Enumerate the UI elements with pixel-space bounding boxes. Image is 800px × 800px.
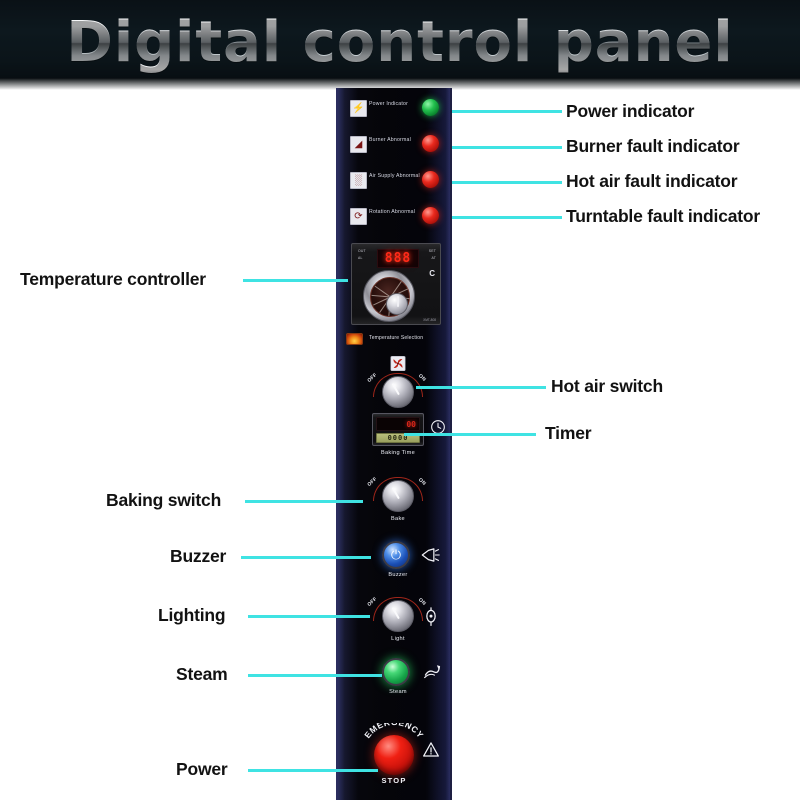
indicator-row-power[interactable]: ⚡ Power Indicator <box>346 96 450 122</box>
steam-control[interactable]: Steam <box>346 658 450 702</box>
indicator-row-burner[interactable]: ◢ Burner Abnormal <box>346 132 450 158</box>
hot-air-switch[interactable]: OFF ON <box>346 356 450 412</box>
emergency-stop-button[interactable] <box>374 735 414 775</box>
control-panel-diagram: Digital control panel ⚡ Power Indicator … <box>0 0 800 800</box>
callout-steam: Steam <box>176 664 228 685</box>
buzzer-button[interactable]: ⏻ <box>382 541 410 569</box>
baking-switch[interactable]: OFF ON Bake <box>346 480 450 528</box>
status-led-air-supply <box>422 171 439 188</box>
leader-line-steam <box>248 674 382 677</box>
indicator-label: Power Indicator <box>369 101 408 107</box>
temp-tag-al: AL <box>358 256 363 260</box>
callout-burner-fault-indicator: Burner fault indicator <box>566 136 740 157</box>
bake-knob-area[interactable]: OFF ON <box>346 480 450 514</box>
temperature-dial-scale <box>370 277 410 317</box>
light-caption: Light <box>346 636 450 642</box>
callout-hot-air-switch: Hot air switch <box>551 376 663 397</box>
temperature-screen: OUT AL 888 SET AT <box>357 248 437 268</box>
light-on-label: ON <box>417 597 427 607</box>
emergency-stop-label: STOP <box>346 776 442 785</box>
temperature-display-value: 888 <box>377 249 419 268</box>
buzzer-control[interactable]: ⏻ Buzzer <box>346 541 450 585</box>
baking-timer[interactable]: 00 0000 Baking Time <box>346 413 450 465</box>
leader-line-burner-fault <box>452 146 562 149</box>
leader-line-hot-air-switch <box>416 386 546 389</box>
light-switch[interactable]: OFF ON Light <box>346 600 450 648</box>
temp-tag-out: OUT <box>358 249 366 253</box>
warning-triangle-icon <box>422 741 440 758</box>
steam-caption: Steam <box>346 689 450 695</box>
callout-timer: Timer <box>545 423 591 444</box>
timer-upper-value: 00 <box>376 417 420 431</box>
temperature-controller[interactable]: OUT AL 888 SET AT C <box>351 243 441 325</box>
bake-knob[interactable] <box>382 480 414 512</box>
light-knob[interactable] <box>382 600 414 632</box>
leader-line-hot-air-fault <box>452 181 562 184</box>
leader-line-power-indicator <box>452 110 562 113</box>
steam-icon <box>422 662 442 680</box>
temperature-dial-pointer <box>397 296 399 307</box>
rotation-icon: ⟳ <box>350 208 367 225</box>
hot-air-knob-area[interactable]: OFF ON <box>346 376 450 410</box>
temperature-controller-model: XMT-808 <box>423 318 436 322</box>
temp-tag-set: SET <box>429 249 436 253</box>
hot-air-knob-pointer <box>392 383 400 395</box>
hot-air-knob[interactable] <box>382 376 414 408</box>
burner-icon: ◢ <box>350 136 367 153</box>
temp-tag-at: AT <box>432 256 436 260</box>
callout-buzzer: Buzzer <box>170 546 226 567</box>
hot-air-on-label: ON <box>417 373 427 383</box>
temperature-dial[interactable] <box>363 270 415 322</box>
callout-hot-air-fault-indicator: Hot air fault indicator <box>566 171 737 192</box>
status-led-rotation <box>422 207 439 224</box>
buzzer-caption: Buzzer <box>346 572 450 578</box>
temperature-selection-label: Temperature Selection <box>369 335 423 341</box>
fan-icon <box>391 356 406 371</box>
control-panel-column: ⚡ Power Indicator ◢ Burner Abnormal ░ Ai… <box>336 88 452 800</box>
leader-line-power <box>248 769 378 772</box>
bake-on-label: ON <box>417 477 427 487</box>
status-led-burner <box>422 135 439 152</box>
flame-icon <box>346 333 363 345</box>
bake-knob-pointer <box>392 487 400 499</box>
indicator-row-air-supply[interactable]: ░ Air Supply Abnormal <box>346 168 450 194</box>
indicator-label: Rotation Abnormal <box>369 209 415 215</box>
leader-line-buzzer <box>241 556 371 559</box>
temperature-selection-row: Temperature Selection <box>346 332 446 348</box>
callout-power: Power <box>176 759 228 780</box>
bake-caption: Bake <box>346 516 450 522</box>
indicator-label: Burner Abnormal <box>369 137 411 143</box>
callout-power-indicator: Power indicator <box>566 101 694 122</box>
leader-line-timer <box>404 433 536 436</box>
indicator-label: Air Supply Abnormal <box>369 173 420 179</box>
callout-baking-switch: Baking switch <box>106 490 221 511</box>
header-banner: Digital control panel <box>0 0 800 88</box>
callout-lighting: Lighting <box>158 605 225 626</box>
callout-temperature-controller: Temperature controller <box>20 269 206 290</box>
timer-caption: Baking Time <box>346 450 450 456</box>
page-title: Digital control panel <box>0 8 800 78</box>
status-led-power <box>422 99 439 116</box>
emergency-stop-control[interactable]: EMERGENCY STOP <box>346 721 450 791</box>
light-knob-pointer <box>392 607 400 619</box>
temperature-unit: C <box>429 269 435 278</box>
buzzer-power-glyph: ⏻ <box>384 543 408 567</box>
leader-line-baking-switch <box>245 500 363 503</box>
leader-line-lighting <box>248 615 370 618</box>
power-plug-icon: ⚡ <box>350 100 367 117</box>
indicator-row-rotation[interactable]: ⟳ Rotation Abnormal <box>346 204 450 230</box>
steam-button[interactable] <box>382 658 410 686</box>
temperature-dial-hub[interactable] <box>386 293 408 315</box>
air-supply-icon: ░ <box>350 172 367 189</box>
horn-icon <box>420 546 440 564</box>
leader-line-turntable-fault <box>452 216 562 219</box>
leader-line-temperature-controller <box>243 279 348 282</box>
timer-display-housing[interactable]: 00 0000 <box>372 413 424 446</box>
lamp-icon <box>422 607 442 625</box>
callout-turntable-fault-indicator: Turntable fault indicator <box>566 206 760 227</box>
